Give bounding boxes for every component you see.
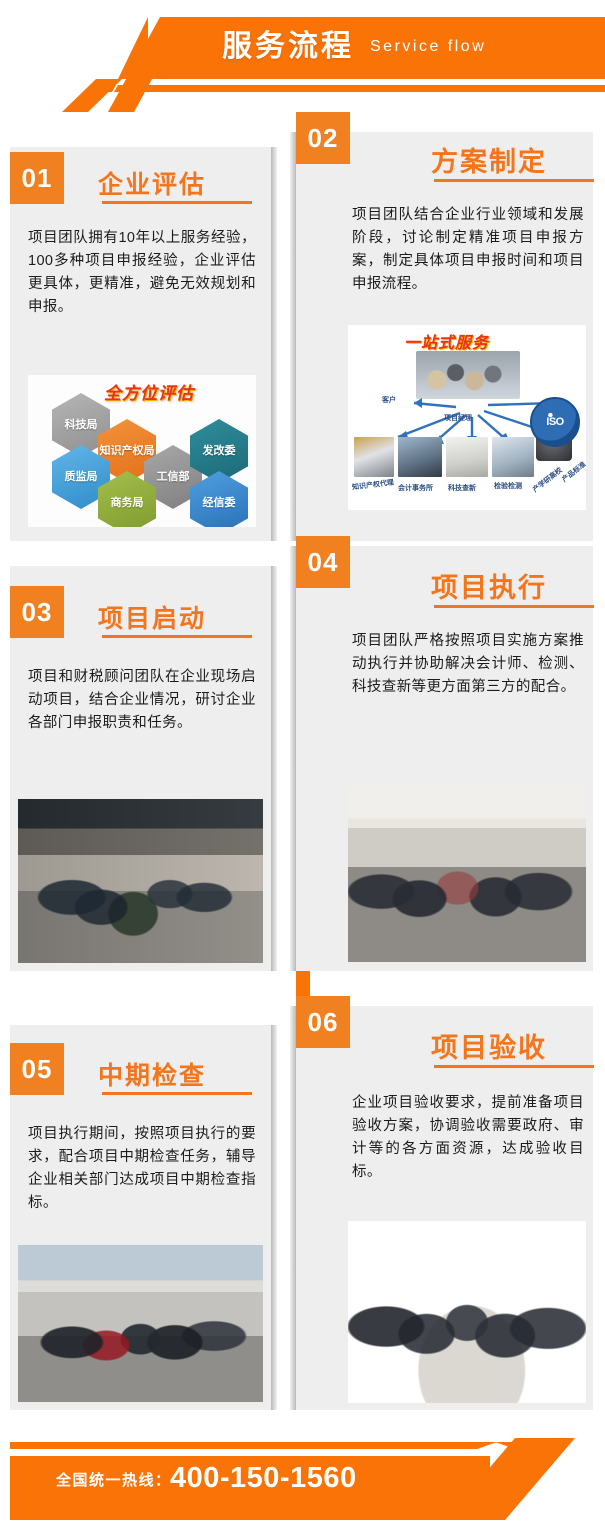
step-card-05: 05 中期检查 项目执行期间，按照项目执行的要求，配合项目中期检查任务，辅导企业… [10,1025,271,1410]
step-card-06: 06 项目验收 企业项目验收要求，提前准备项目验收方案，协调验收需要政府、审计等… [296,1006,593,1410]
step-body-text: 项目团队拥有10年以上服务经验，100多种项目申报经验，企业评估更具体，更精准，… [28,227,256,319]
step-media-photo [348,786,586,962]
step-media-one-stop-diagram: 一站式服务 [348,325,586,510]
step-number-badge: 01 [10,152,64,204]
header-underline [94,85,605,92]
one-stop-label-pm: 项目经理 [444,413,472,423]
step-media-photo [18,1245,263,1402]
step-number-badge: 03 [10,586,64,638]
page-title: 服务流程 [222,24,354,70]
one-stop-thumb-novelty [446,437,488,477]
page-subtitle: Service flow [370,38,486,56]
step-card-03: 03 项目启动 项目和财税顾问团队在企业现场启动项目，结合企业情况，研讨企业各部… [10,566,271,971]
step-number-badge: 05 [10,1043,64,1095]
one-stop-label-inspection: 检验检测 [494,481,522,491]
step-title: 中期检查 [98,1056,206,1092]
infographic-page: 服务流程 Service flow 01 企业评估 项目团队拥有10年以上服务经… [0,0,605,1538]
step-body-text: 项目和财税顾问团队在企业现场启动项目，结合企业情况，研讨企业各部门申报职责和任务… [28,666,256,735]
footer-underline [10,1442,497,1449]
one-stop-thumb-inspection [492,437,534,477]
step-card-02: 02 方案制定 项目团队结合企业行业领域和发展阶段，讨论制定精准项目申报方案，制… [296,132,593,541]
card-shadow [290,546,296,971]
iso-seal-icon: ISO [530,397,580,447]
step-media-hexagon-diagram: 全方位评估 科技局 知识产权局 质监局 工信部 发改委 商务局 经信委 [28,375,256,527]
one-stop-label-customer: 客户 [382,395,396,405]
step-body-text: 项目团队严格按照项目实施方案推动执行并协助解决会计师、检测、科技查新等更方面第三… [352,630,584,699]
step-title-underline [434,179,594,182]
step-number-badge: 02 [296,112,350,164]
page-footer: 全国统一热线： 400-150-1560 [0,1424,605,1538]
hotline-number[interactable]: 400-150-1560 [170,1462,357,1495]
step-card-01: 01 企业评估 项目团队拥有10年以上服务经验，100多种项目申报经验，企业评估… [10,147,271,541]
one-stop-label-novelty: 科技查新 [448,483,476,493]
step-title: 项目执行 [431,566,547,605]
step-card-04: 04 项目执行 项目团队严格按照项目实施方案推动执行并协助解决会计师、检测、科技… [296,546,593,971]
step-title: 项目验收 [431,1026,547,1065]
step-title-underline [102,201,252,204]
step-number-badge: 06 [296,996,350,1048]
page-header: 服务流程 Service flow [0,0,605,112]
card-shadow [290,1006,296,1410]
hexagon-diagram-title: 全方位评估 [104,379,194,404]
header-bar [130,17,605,79]
step-title: 方案制定 [431,140,547,179]
step-number-badge: 04 [296,536,350,588]
step-title-underline [434,1065,594,1068]
one-stop-label-accounting: 会计事务所 [398,483,433,493]
card-shadow [290,132,296,541]
step-title-underline [102,635,252,638]
card-shadow [271,1025,277,1410]
step-body-text: 企业项目验收要求，提前准备项目验收方案，协调验收需要政府、审计等的各方面资源，达… [352,1092,584,1184]
step-media-photo [18,799,263,963]
step-title-underline [434,605,594,608]
card-shadow [271,147,277,541]
step-title: 项目启动 [98,599,206,635]
card-shadow [271,566,277,971]
step-media-photo [348,1221,586,1403]
hotline-label: 全国统一热线： [56,1469,172,1490]
step-title: 企业评估 [98,165,206,201]
step-body-text: 项目执行期间，按照项目执行的要求，配合项目中期检查任务，辅导企业相关部门达成项目… [28,1123,256,1215]
step-body-text: 项目团队结合企业行业领域和发展阶段，讨论制定精准项目申报方案，制定具体项目申报时… [352,204,584,296]
step-title-underline [102,1092,252,1095]
one-stop-thumb-ip [354,437,394,477]
one-stop-thumb-accounting [398,437,442,477]
